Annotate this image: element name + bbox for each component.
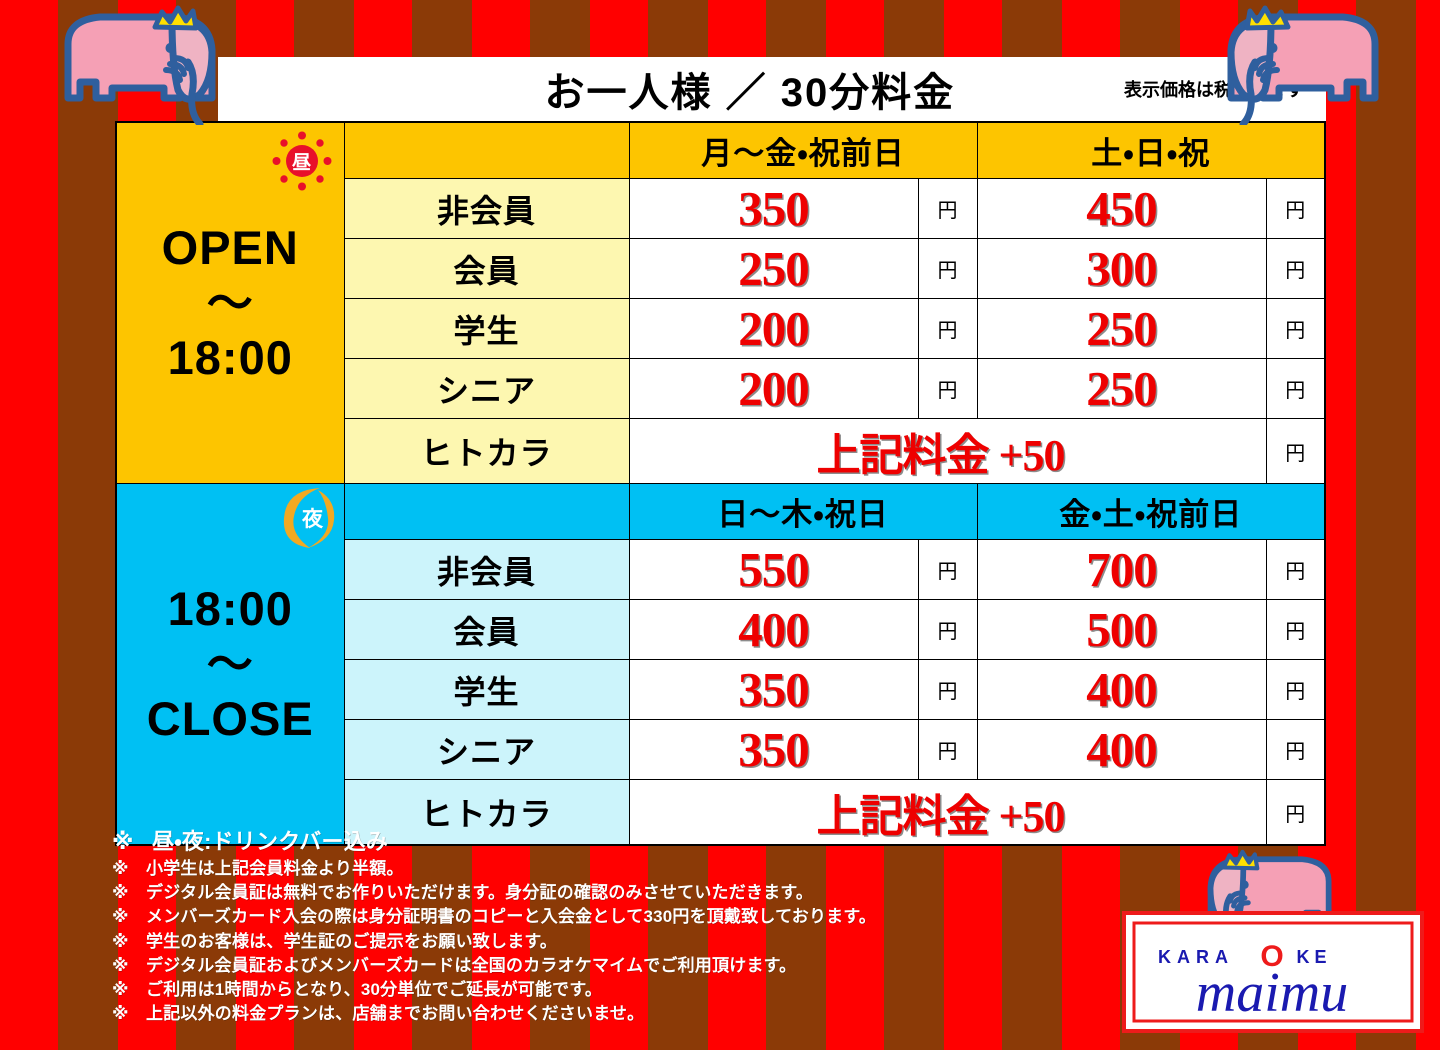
price-value: 400: [977, 720, 1266, 780]
footnote-list: ※昼・夜:ドリンクバー込み ※小学生は上記会員料金より半額。 ※デジタル会員証は…: [112, 826, 1112, 1026]
currency-unit: 円: [1266, 419, 1325, 484]
footnote-text: メンバーズカード入会の際は身分証明書のコピーと入会金として330円を頂戴致してお…: [146, 907, 876, 926]
col-header-night-weekday: 日～木・祝日: [629, 484, 977, 540]
category-label: 学生: [344, 299, 629, 359]
title-bar: お一人様 ／ 30分料金 表示価格は税込みです: [218, 57, 1326, 121]
currency-unit: 円: [1266, 660, 1325, 720]
price-value: 400: [629, 600, 918, 660]
currency-unit: 円: [918, 660, 977, 720]
footnote-marker: ※: [112, 881, 146, 905]
day-time-line2: ～: [117, 276, 344, 330]
category-label: 非会員: [344, 540, 629, 600]
price-value: 350: [629, 720, 918, 780]
sun-icon: 昼: [272, 131, 332, 191]
price-value: 350: [629, 179, 918, 239]
category-label: 会員: [344, 600, 629, 660]
footnote-text: 学生のお客様は、学生証のご提示をお願い致します。: [146, 932, 557, 951]
price-value: 250: [629, 239, 918, 299]
brand-logo: KARA O KE maimu: [1122, 845, 1424, 1035]
footnote-text: 小学生は上記会員料金より半額。: [146, 859, 404, 878]
currency-unit: 円: [918, 720, 977, 780]
footnote-marker: ※: [112, 857, 146, 881]
price-value: 500: [977, 600, 1266, 660]
currency-unit: 円: [1266, 359, 1325, 419]
footnote-marker: ※: [112, 826, 152, 857]
category-label: ヒトカラ: [344, 419, 629, 484]
special-price-value: 上記料金 +50: [629, 419, 1266, 484]
footnote-text: ご利用は1時間からとなり、30分単位でご延長が可能です。: [146, 980, 602, 999]
footnote-text: デジタル会員証は無料でお作りいただけます。身分証の確認のみさせていただきます。: [146, 883, 813, 902]
price-value: 200: [629, 299, 918, 359]
currency-unit: 円: [1266, 780, 1325, 846]
currency-unit: 円: [1266, 600, 1325, 660]
currency-unit: 円: [918, 540, 977, 600]
time-block-night: 夜 18:00 ～ CLOSE: [116, 484, 344, 846]
col-header-day-weekday: 月～金・祝前日: [629, 122, 977, 179]
currency-unit: 円: [918, 359, 977, 419]
moon-badge-label: 夜: [301, 507, 324, 531]
col-header-night-weekend: 金・土・祝前日: [977, 484, 1325, 540]
price-value: 350: [629, 660, 918, 720]
footnote-text: デジタル会員証およびメンバーズカードは全国のカラオケマイムでご利用頂けます。: [146, 956, 796, 975]
currency-unit: 円: [918, 299, 977, 359]
price-value: 300: [977, 239, 1266, 299]
night-time-line2: ～: [117, 637, 344, 691]
currency-unit: 円: [1266, 299, 1325, 359]
day-time-line1: OPEN: [117, 220, 344, 275]
footnote-item: ※学生のお客様は、学生証のご提示をお願い致します。: [112, 930, 1112, 954]
price-value: 700: [977, 540, 1266, 600]
category-label: 会員: [344, 239, 629, 299]
footnote-marker: ※: [112, 1002, 146, 1026]
footnote-marker: ※: [112, 930, 146, 954]
footnote-marker: ※: [112, 954, 146, 978]
header-blank-night: [344, 484, 629, 540]
currency-unit: 円: [1266, 179, 1325, 239]
currency-unit: 円: [1266, 720, 1325, 780]
footnote-item: ※小学生は上記会員料金より半額。: [112, 857, 1112, 881]
moon-icon: 夜: [264, 486, 338, 550]
category-label: 学生: [344, 660, 629, 720]
price-value: 250: [977, 299, 1266, 359]
price-value: 200: [629, 359, 918, 419]
page-title: お一人様 ／ 30分料金: [544, 60, 955, 118]
category-label: シニア: [344, 359, 629, 419]
currency-unit: 円: [918, 179, 977, 239]
currency-unit: 円: [918, 239, 977, 299]
footnote-item: ※上記以外の料金プランは、店舗までお問い合わせくださいませ。: [112, 1002, 1112, 1026]
footnote-text: 上記以外の料金プランは、店舗までお問い合わせくださいませ。: [146, 1004, 644, 1023]
footnote-marker: ※: [112, 978, 146, 1002]
logo-wordmark: maimu: [1196, 962, 1348, 1024]
footnote-marker: ※: [112, 905, 146, 929]
price-value: 250: [977, 359, 1266, 419]
day-time-line3: 18:00: [117, 330, 344, 385]
footnote-item: ※昼・夜:ドリンクバー込み: [112, 826, 1112, 857]
price-value: 450: [977, 179, 1266, 239]
night-time-line3: CLOSE: [117, 691, 344, 746]
header-blank-day: [344, 122, 629, 179]
tax-note: 表示価格は税込みです: [1124, 76, 1304, 102]
table-row-header-night: 夜 18:00 ～ CLOSE 日～木・祝日 金・土・祝前日: [116, 484, 1325, 540]
price-value: 550: [629, 540, 918, 600]
footnote-item: ※メンバーズカード入会の際は身分証明書のコピーと入会金として330円を頂戴致して…: [112, 905, 1112, 929]
currency-unit: 円: [918, 600, 977, 660]
footnote-item: ※デジタル会員証およびメンバーズカードは全国のカラオケマイムでご利用頂けます。: [112, 954, 1112, 978]
night-time-line1: 18:00: [117, 581, 344, 636]
price-value: 400: [977, 660, 1266, 720]
footnote-item: ※デジタル会員証は無料でお作りいただけます。身分証の確認のみさせていただきます。: [112, 881, 1112, 905]
footnote-item: ※ご利用は1時間からとなり、30分単位でご延長が可能です。: [112, 978, 1112, 1002]
table-row-header-day: 昼 OPEN ～ 18:00 月～金・祝前日 土・日・祝: [116, 122, 1325, 179]
category-label: 非会員: [344, 179, 629, 239]
footnote-text: 昼・夜:ドリンクバー込み: [152, 829, 388, 854]
time-block-day: 昼 OPEN ～ 18:00: [116, 122, 344, 484]
price-table: 昼 OPEN ～ 18:00 月～金・祝前日 土・日・祝 非会員 350 円 4…: [115, 121, 1326, 846]
category-label: シニア: [344, 720, 629, 780]
currency-unit: 円: [1266, 239, 1325, 299]
sun-badge-label: 昼: [291, 152, 311, 174]
currency-unit: 円: [1266, 540, 1325, 600]
col-header-day-weekend: 土・日・祝: [977, 122, 1325, 179]
